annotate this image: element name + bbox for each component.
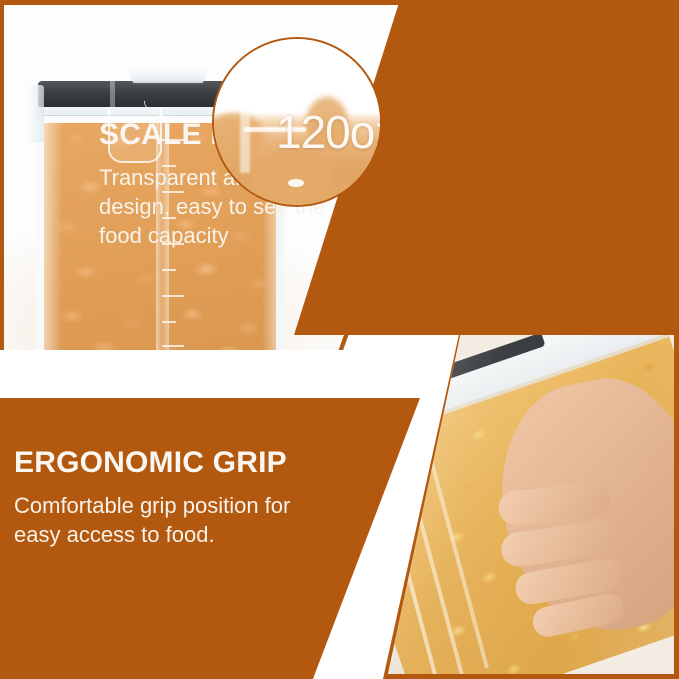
magnifier-measurement-label: 120oz <box>276 105 382 159</box>
magnifier-callout-circle: 120oz <box>212 37 382 207</box>
index-finger <box>497 481 612 527</box>
product-feature-infographic: 120oz SCALE DESIGN Transparent and scale… <box>0 0 679 679</box>
container-vent-hole <box>288 179 304 187</box>
ergonomic-grip-body: Comfortable grip position for easy acces… <box>14 491 324 549</box>
magnified-scale-rail <box>240 95 250 173</box>
cereal-container-photo <box>388 335 674 674</box>
magnifier-content: 120oz <box>214 39 380 205</box>
lid-flip-handle <box>132 69 204 83</box>
lid-side-clip <box>28 85 44 143</box>
ergonomic-grip-text-block: ERGONOMIC GRIP Comfortable grip position… <box>14 446 324 549</box>
magnified-pasta-blob <box>212 113 264 159</box>
ergonomic-grip-heading: ERGONOMIC GRIP <box>14 446 324 479</box>
lid-seam <box>110 81 115 107</box>
bottom-right-photo-panel <box>388 335 674 674</box>
